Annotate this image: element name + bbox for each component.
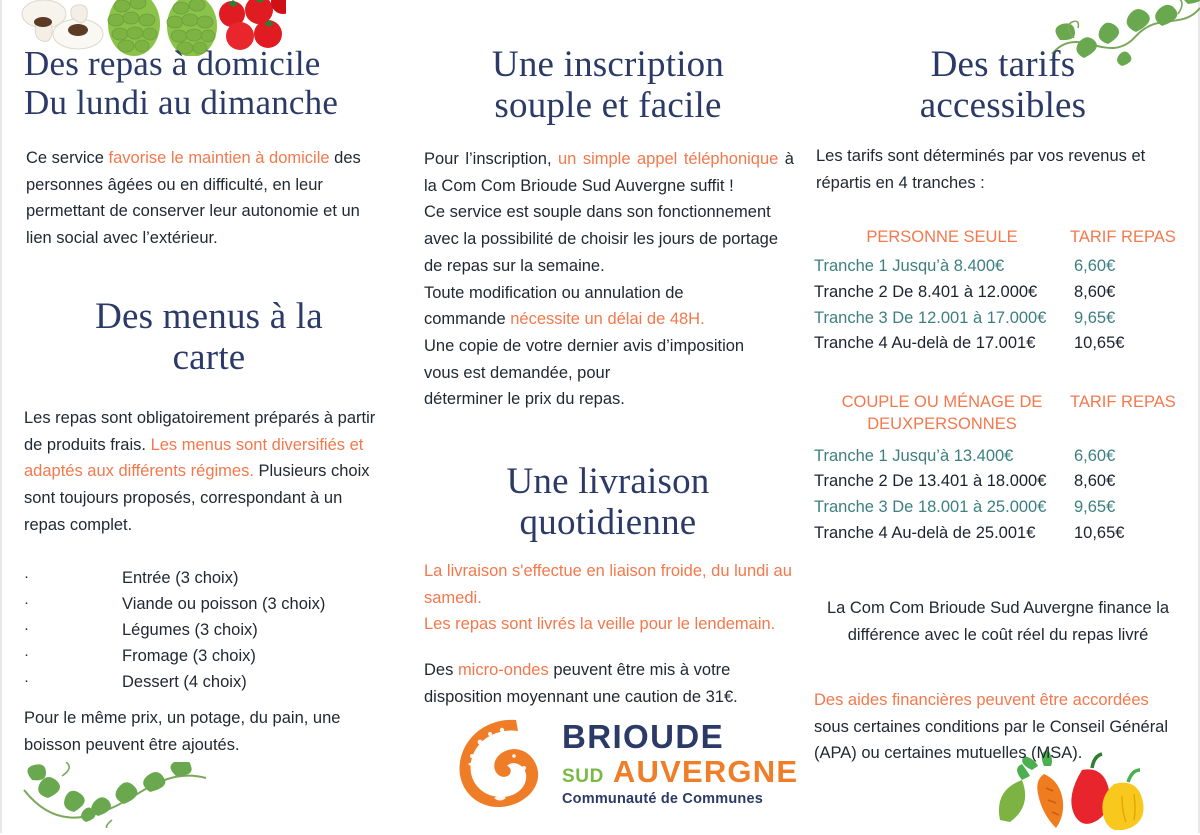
inscription-line-6: commande nécessite un délai de 48H. bbox=[424, 306, 794, 333]
list-item: · Dessert (4 choix) bbox=[24, 669, 384, 695]
microwave-pre: Des bbox=[424, 661, 458, 679]
logo-wordmark: BRIOUDE SUD AUVERGNE Communauté de Commu… bbox=[562, 720, 798, 807]
logo-swirl-mark bbox=[450, 712, 555, 812]
list-item-label: Légumes (3 choix) bbox=[122, 617, 258, 643]
heading-left-line2: Du lundi au dimanche bbox=[24, 83, 338, 122]
inscription-highlight: un simple appel téléphonique bbox=[558, 150, 778, 168]
table-cell-label: Tranche 3 De 18.001 à 25.000€ bbox=[814, 495, 1070, 521]
table-row: Tranche 2 De 8.401 à 12.000€ 8,60€ bbox=[814, 280, 1194, 306]
brochure-page: Des repas à domicile Du lundi au dimanch… bbox=[0, 0, 1200, 833]
table-body: Tranche 1 Jusqu’à 13.400€ 6,60€ Tranche … bbox=[814, 444, 1194, 547]
menu-courses-list: · Entrée (3 choix) · Viande ou poisson (… bbox=[24, 565, 384, 695]
aid-post: sous certaines conditions par le Conseil… bbox=[814, 718, 1168, 763]
column-header-category-line2: DEUXPERSONNES bbox=[867, 415, 1016, 433]
left-intro-highlight: favorise le maintien à domicile bbox=[109, 149, 330, 167]
inscription-line-3: avec la possibilité de choisir les jours… bbox=[424, 226, 794, 253]
table-cell-price: 6,60€ bbox=[1070, 254, 1194, 280]
heading-inscription-line1: Une inscription bbox=[492, 44, 724, 85]
heading-inscription-line2: souple et facile bbox=[494, 85, 721, 126]
heading-tarifs-line1: Des tarifs bbox=[931, 44, 1076, 85]
table-row: Tranche 1 Jusqu’à 8.400€ 6,60€ bbox=[814, 254, 1194, 280]
indent-spacer bbox=[42, 591, 122, 617]
heading-left-line1: Des repas à domicile bbox=[24, 44, 321, 83]
list-item-label: Entrée (3 choix) bbox=[122, 565, 238, 591]
table-cell-price: 8,60€ bbox=[1070, 280, 1194, 306]
column-header-category-line1: COUPLE OU MÉNAGE DE bbox=[842, 393, 1043, 411]
middle-inscription-block: Pour l’inscription, un simple appel télé… bbox=[424, 146, 794, 413]
list-item: · Viande ou poisson (3 choix) bbox=[24, 591, 384, 617]
list-item: · Légumes (3 choix) bbox=[24, 617, 384, 643]
bullet-icon: · bbox=[24, 643, 42, 669]
livraison-line-1: La livraison s'effectue en liaison froid… bbox=[424, 558, 796, 611]
left-intro-paragraph: Ce service favorise le maintien à domici… bbox=[26, 145, 374, 252]
aid-highlight: Des aides financières peuvent être accor… bbox=[814, 691, 1149, 709]
table-cell-label: Tranche 4 Au-delà de 17.001€ bbox=[814, 331, 1070, 357]
microwave-paragraph: Des micro-ondes peuvent être mis à votre… bbox=[424, 657, 784, 710]
tariff-table-personne-seule: PERSONNE SEULE TARIF REPAS Tranche 1 Jus… bbox=[814, 226, 1194, 357]
heading-livraison-line1: Une livraison bbox=[507, 461, 710, 502]
table-cell-label: Tranche 1 Jusqu’à 8.400€ bbox=[814, 254, 1070, 280]
table-cell-label: Tranche 1 Jusqu’à 13.400€ bbox=[814, 444, 1070, 470]
table-cell-label: Tranche 4 Au-delà de 25.001€ bbox=[814, 521, 1070, 547]
heading-menus-line2: carte bbox=[173, 337, 246, 378]
left-extras-paragraph: Pour le même prix, un potage, du pain, u… bbox=[24, 705, 376, 758]
table-row: Tranche 4 Au-delà de 25.001€ 10,65€ bbox=[814, 521, 1194, 547]
inscription-line-4: de repas sur la semaine. bbox=[424, 253, 794, 280]
bullet-icon: · bbox=[24, 617, 42, 643]
column-header-price: TARIF REPAS bbox=[1070, 391, 1194, 436]
table-cell-price: 6,60€ bbox=[1070, 444, 1194, 470]
green-vine-leaves-icon bbox=[16, 762, 211, 828]
list-item-label: Fromage (3 choix) bbox=[122, 643, 256, 669]
inscription-line-7: Une copie de votre dernier avis d’imposi… bbox=[424, 333, 794, 360]
logo-second-line: SUD AUVERGNE bbox=[562, 756, 798, 788]
table-cell-label: Tranche 2 De 13.401 à 18.000€ bbox=[814, 469, 1070, 495]
table-cell-price: 8,60€ bbox=[1070, 469, 1194, 495]
inscription-line-8: vous est demandée, pour bbox=[424, 360, 794, 387]
page-title-inscription: Une inscription souple et facile bbox=[420, 44, 796, 127]
inscription-line-2: Ce service est souple dans son fonctionn… bbox=[424, 199, 794, 226]
table-header-row: COUPLE OU MÉNAGE DE DEUXPERSONNES TARIF … bbox=[814, 391, 1194, 436]
column-header-category: COUPLE OU MÉNAGE DE DEUXPERSONNES bbox=[814, 391, 1070, 436]
livraison-paragraph: La livraison s'effectue en liaison froid… bbox=[424, 558, 796, 638]
inscription-line-5: Toute modification ou annulation de bbox=[424, 280, 794, 307]
inscription-delay-pre: commande bbox=[424, 310, 510, 328]
column-header-price: TARIF REPAS bbox=[1070, 226, 1194, 248]
table-row: Tranche 3 De 12.001 à 17.000€ 9,65€ bbox=[814, 306, 1194, 332]
logo-auvergne-text: AUVERGNE bbox=[613, 756, 798, 787]
table-row: Tranche 3 De 18.001 à 25.000€ 9,65€ bbox=[814, 495, 1194, 521]
bullet-icon: · bbox=[24, 565, 42, 591]
inscription-first-paragraph: Pour l’inscription, un simple appel télé… bbox=[424, 146, 794, 199]
financing-note: La Com Com Brioude Sud Auvergne finance … bbox=[814, 595, 1182, 648]
left-intro-pre: Ce service bbox=[26, 149, 109, 167]
brioude-sud-auvergne-logo: BRIOUDE SUD AUVERGNE Communauté de Commu… bbox=[450, 712, 750, 817]
logo-brioude-text: BRIOUDE bbox=[562, 720, 798, 753]
table-cell-price: 10,65€ bbox=[1070, 521, 1194, 547]
left-menus-paragraph: Les repas sont obligatoirement préparés … bbox=[24, 405, 379, 539]
logo-sud-text: SUD bbox=[562, 766, 604, 788]
logo-tagline: Communauté de Communes bbox=[562, 791, 798, 807]
table-cell-price: 9,65€ bbox=[1070, 495, 1194, 521]
heading-tarifs-line2: accessibles bbox=[920, 85, 1087, 126]
table-row: Tranche 2 De 13.401 à 18.000€ 8,60€ bbox=[814, 469, 1194, 495]
heading-menus-line1: Des menus à la bbox=[95, 296, 323, 337]
table-cell-price: 9,65€ bbox=[1070, 306, 1194, 332]
page-title-menus: Des menus à la carte bbox=[24, 296, 394, 379]
list-item: · Entrée (3 choix) bbox=[24, 565, 384, 591]
inscription-delay-highlight: nécessite un délai de 48H. bbox=[510, 310, 704, 328]
indent-spacer bbox=[42, 643, 122, 669]
bullet-icon: · bbox=[24, 591, 42, 617]
table-cell-price: 10,65€ bbox=[1070, 331, 1194, 357]
table-cell-label: Tranche 2 De 8.401 à 12.000€ bbox=[814, 280, 1070, 306]
table-row: Tranche 1 Jusqu’à 13.400€ 6,60€ bbox=[814, 444, 1194, 470]
financial-aid-note: Des aides financières peuvent être accor… bbox=[814, 687, 1174, 767]
inscription-line-9: déterminer le prix du repas. bbox=[424, 386, 794, 413]
microwave-highlight: micro-ondes bbox=[458, 661, 549, 679]
list-item: · Fromage (3 choix) bbox=[24, 643, 384, 669]
livraison-line-2: Les repas sont livrés la veille pour le … bbox=[424, 611, 796, 638]
table-header-row: PERSONNE SEULE TARIF REPAS bbox=[814, 226, 1194, 248]
indent-spacer bbox=[42, 565, 122, 591]
indent-spacer bbox=[42, 617, 122, 643]
inscription-pre: Pour l’inscription, bbox=[424, 150, 558, 168]
table-row: Tranche 4 Au-delà de 17.001€ 10,65€ bbox=[814, 331, 1194, 357]
page-title-livraison: Une livraison quotidienne bbox=[420, 461, 796, 544]
tarifs-intro-paragraph: Les tarifs sont déterminés par vos reven… bbox=[816, 143, 1180, 196]
indent-spacer bbox=[42, 669, 122, 695]
page-title-left: Des repas à domicile Du lundi au dimanch… bbox=[24, 44, 394, 122]
column-header-category: PERSONNE SEULE bbox=[814, 226, 1070, 248]
tariff-table-couple-menage: COUPLE OU MÉNAGE DE DEUXPERSONNES TARIF … bbox=[814, 391, 1194, 546]
list-item-label: Viande ou poisson (3 choix) bbox=[122, 591, 325, 617]
table-cell-label: Tranche 3 De 12.001 à 17.000€ bbox=[814, 306, 1070, 332]
list-item-label: Dessert (4 choix) bbox=[122, 669, 247, 695]
bullet-icon: · bbox=[24, 669, 42, 695]
heading-livraison-line2: quotidienne bbox=[520, 502, 697, 543]
page-title-tarifs: Des tarifs accessibles bbox=[814, 44, 1192, 127]
